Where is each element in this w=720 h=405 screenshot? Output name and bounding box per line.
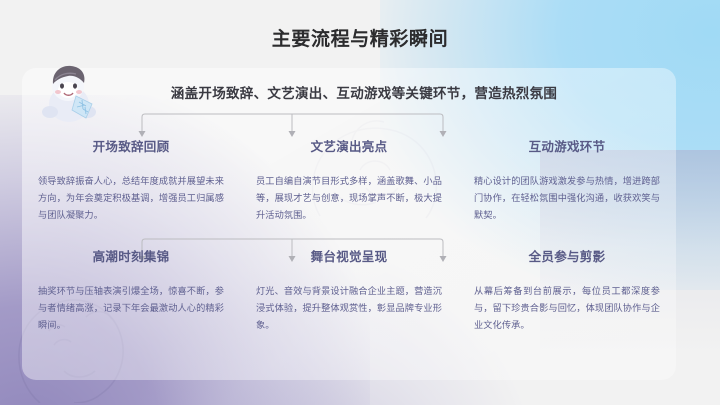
slide-root: 主要流程与精彩瞬间 bbox=[0, 0, 720, 405]
process-item-title: 互动游戏环节 bbox=[474, 136, 660, 155]
process-item-title: 舞台视觉呈现 bbox=[256, 246, 442, 265]
page-title: 主要流程与精彩瞬间 bbox=[0, 24, 720, 51]
subtitle-banner: 涵盖开场致辞、文艺演出、互动游戏等关键环节，营造热烈氛围 bbox=[104, 82, 624, 102]
process-item-body: 员工自编自演节目形式多样，涵盖歌舞、小品等，展现才艺与创意，现场掌声不断，极大提… bbox=[256, 173, 442, 224]
process-item-title: 文艺演出亮点 bbox=[256, 136, 442, 155]
process-grid: 开场致辞回顾 领导致辞振奋人心，总结年度成就并展望未来方向，为年会奠定积极基调，… bbox=[22, 136, 676, 334]
process-item-group-photo[interactable]: 全员参与剪影 从幕后筹备到台前展示，每位员工都深度参与，留下珍贵合影与回忆，体现… bbox=[458, 246, 676, 334]
process-item-interactive-games[interactable]: 互动游戏环节 精心设计的团队游戏激发参与热情，增进跨部门协作，在轻松氛围中强化沟… bbox=[458, 136, 676, 224]
process-item-opening-speech[interactable]: 开场致辞回顾 领导致辞振奋人心，总结年度成就并展望未来方向，为年会奠定积极基调，… bbox=[22, 136, 240, 224]
process-item-title: 高潮时刻集锦 bbox=[38, 246, 224, 265]
process-item-body: 领导致辞振奋人心，总结年度成就并展望未来方向，为年会奠定积极基调，增强员工归属感… bbox=[38, 173, 224, 224]
process-item-body: 从幕后筹备到台前展示，每位员工都深度参与，留下珍贵合影与回忆，体现团队协作与企业… bbox=[474, 283, 660, 334]
process-item-title: 开场致辞回顾 bbox=[38, 136, 224, 155]
process-row-bottom: 高潮时刻集锦 抽奖环节与压轴表演引爆全场，惊喜不断，参与者情绪高涨，记录下年会最… bbox=[22, 246, 676, 334]
process-item-body: 精心设计的团队游戏激发参与热情，增进跨部门协作，在轻松氛围中强化沟通，收获欢笑与… bbox=[474, 173, 660, 224]
process-row-top: 开场致辞回顾 领导致辞振奋人心，总结年度成就并展望未来方向，为年会奠定积极基调，… bbox=[22, 136, 676, 224]
process-item-body: 抽奖环节与压轴表演引爆全场，惊喜不断，参与者情绪高涨，记录下年会最激动人心的精彩… bbox=[38, 283, 224, 334]
process-item-highlights[interactable]: 高潮时刻集锦 抽奖环节与压轴表演引爆全场，惊喜不断，参与者情绪高涨，记录下年会最… bbox=[22, 246, 240, 334]
process-item-title: 全员参与剪影 bbox=[474, 246, 660, 265]
process-item-body: 灯光、音效与背景设计融合企业主题，营造沉浸式体验，提升整体观赏性，彰显品牌专业形… bbox=[256, 283, 442, 334]
seal-mascot-icon bbox=[38, 60, 100, 126]
process-item-performance[interactable]: 文艺演出亮点 员工自编自演节目形式多样，涵盖歌舞、小品等，展现才艺与创意，现场掌… bbox=[240, 136, 458, 224]
process-item-stage-visuals[interactable]: 舞台视觉呈现 灯光、音效与背景设计融合企业主题，营造沉浸式体验，提升整体观赏性，… bbox=[240, 246, 458, 334]
